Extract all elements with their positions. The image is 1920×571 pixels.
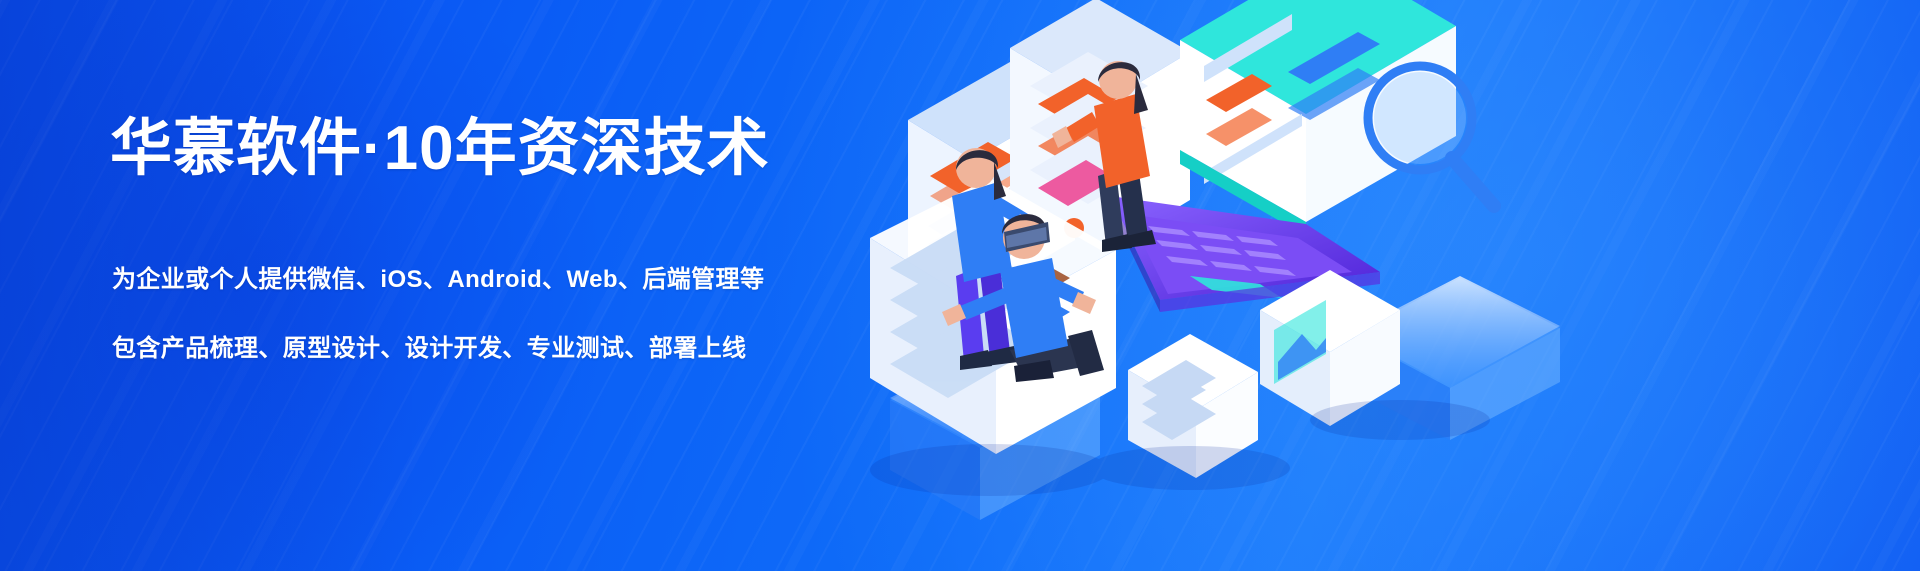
banner-copy-block: 华慕软件·10年资深技术 为企业或个人提供微信、iOS、Android、Web、… [110,0,870,571]
hero-illustration [860,0,1920,571]
banner-subtitle-line-1: 为企业或个人提供微信、iOS、Android、Web、后端管理等 [112,268,764,292]
magnifier-icon [1368,66,1494,206]
banner-subtitle-line-2: 包含产品梳理、原型设计、设计开发、专业测试、部署上线 [112,337,746,361]
banner-headline: 华慕软件·10年资深技术 [110,118,770,180]
hero-banner: 华慕软件·10年资深技术 为企业或个人提供微信、iOS、Android、Web、… [0,0,1920,571]
